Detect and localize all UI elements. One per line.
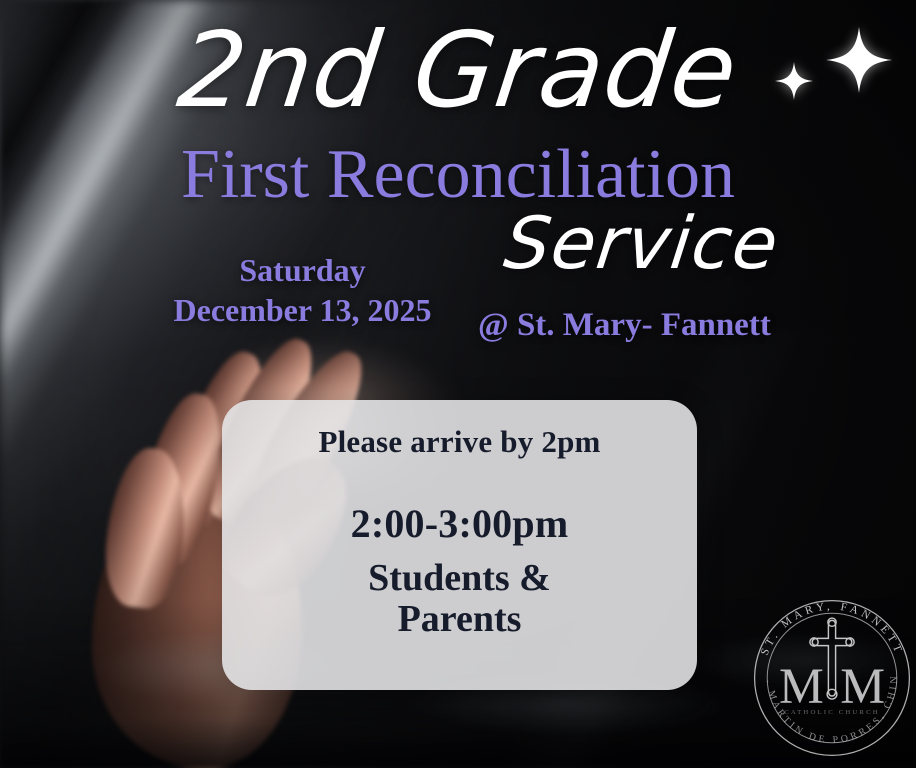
event-date: December 13, 2025 bbox=[135, 290, 470, 330]
page-title-sacrament: First Reconciliation bbox=[0, 140, 916, 210]
audience-line-1: Students & bbox=[222, 558, 697, 599]
event-venue: @ St. Mary- Fannett bbox=[478, 306, 771, 346]
seal-monogram-right: M bbox=[840, 658, 885, 714]
time-range: 2:00-3:00pm bbox=[222, 500, 697, 547]
page-title-service: Service bbox=[500, 206, 782, 282]
event-info-card: Please arrive by 2pm 2:00-3:00pm Student… bbox=[222, 400, 697, 690]
audience-line-2: Parents bbox=[222, 599, 697, 640]
poster-canvas: 2nd Grade First Reconciliation Service S… bbox=[0, 0, 916, 768]
audience-note: Students & Parents bbox=[222, 558, 697, 640]
event-day: Saturday bbox=[135, 250, 470, 290]
parish-seal-logo: ST. MARY, FANNETT ST. MARTIN DE PORRES, … bbox=[742, 588, 916, 768]
event-date-block: Saturday December 13, 2025 bbox=[135, 250, 470, 331]
seal-subtitle: CATHOLIC CHURCH bbox=[784, 709, 880, 716]
arrival-note: Please arrive by 2pm bbox=[222, 424, 697, 460]
page-title-grade: 2nd Grade bbox=[0, 14, 916, 126]
seal-top-arc-text: ST. MARY, FANNETT bbox=[759, 601, 906, 658]
seal-monogram-left: M bbox=[779, 658, 824, 714]
